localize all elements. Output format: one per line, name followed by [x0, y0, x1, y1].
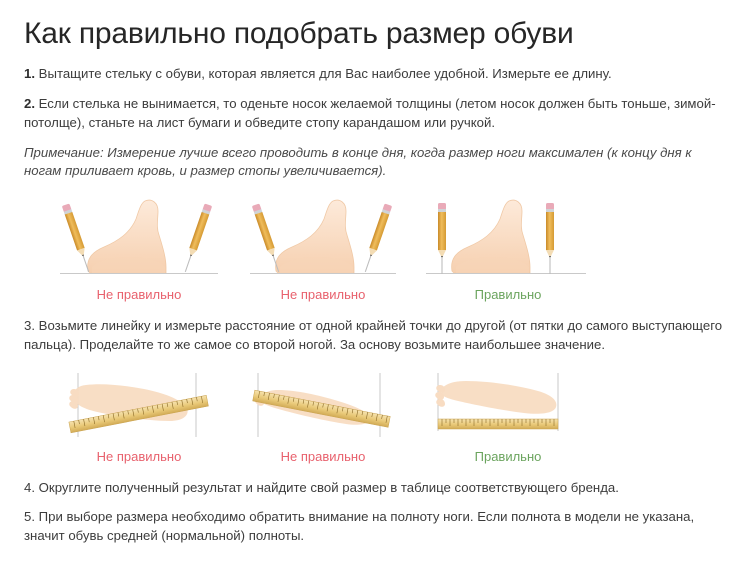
step-3: 3. Возьмите линейку и измерьте расстояни… [24, 317, 726, 354]
figure-pencil-wrong-2: Не правильно [240, 195, 406, 301]
ruler-tilted [253, 390, 391, 427]
figure-pencil-wrong-2-canvas [240, 195, 406, 281]
step-3-text: Возьмите линейку и измерьте расстояние о… [24, 318, 722, 352]
figure-ruler-wrong-2-caption: Не правильно [240, 443, 406, 463]
ruler-horizontal [438, 419, 558, 429]
page-title: Как правильно подобрать размер обуви [24, 0, 726, 51]
step-4: 4. Округлите полученный результат и найд… [24, 479, 726, 498]
step-1-number: 1. [24, 66, 35, 81]
step-5-number: 5. [24, 509, 35, 524]
step-4-text: Округлите полученный результат и найдите… [35, 480, 619, 495]
step-2-text: Если стелька не вынимается, то оденьте н… [24, 96, 716, 130]
infographic-page: Как правильно подобрать размер обуви 1. … [0, 0, 750, 564]
note-text: Примечание: Измерение лучше всего провод… [24, 144, 724, 181]
figure-pencil-wrong-2-caption: Не правильно [240, 281, 406, 301]
step-3-number: 3. [24, 318, 35, 333]
step-2-number: 2. [24, 96, 35, 111]
figure-pencil-wrong-1-caption: Не правильно [46, 281, 232, 301]
figure-pencil-correct-caption: Правильно [418, 281, 598, 301]
step-5: 5. При выборе размера необходимо обратит… [24, 508, 726, 545]
figure-pencil-wrong-1-canvas [46, 195, 232, 281]
figure-ruler-wrong-1-caption: Не правильно [46, 443, 232, 463]
step-5-text: При выборе размера необходимо обратить в… [24, 509, 694, 543]
figure-ruler-correct: Правильно [418, 371, 598, 463]
pencil-right-vertical [546, 203, 554, 274]
steps-top: 1. Вытащите стельку с обуви, которая явл… [24, 65, 726, 181]
figure-ruler-wrong-1: Не правильно [46, 371, 232, 463]
figure-ruler-correct-caption: Правильно [418, 443, 598, 463]
figure-ruler-wrong-2: Не правильно [240, 371, 406, 463]
figure-row-pencil: Не правильно [24, 195, 726, 301]
step-4-number: 4. [24, 480, 35, 495]
figure-ruler-correct-canvas [418, 371, 598, 443]
figure-ruler-wrong-2-canvas [240, 371, 406, 443]
step-2: 2. Если стелька не вынимается, то оденьт… [24, 95, 726, 132]
foot-profile-shape [452, 200, 530, 273]
pencil-right-tilted [362, 204, 393, 274]
pencil-left-vertical [438, 203, 446, 274]
pencil-right-tilted [182, 204, 213, 274]
steps-bottom: 4. Округлите полученный результат и найд… [24, 479, 726, 546]
figure-pencil-correct-canvas [418, 195, 598, 281]
step-1-text: Вытащите стельку с обуви, которая являет… [35, 66, 612, 81]
figure-row-ruler: Не правильно [24, 371, 726, 463]
figure-pencil-correct: Правильно [418, 195, 598, 301]
step-1: 1. Вытащите стельку с обуви, которая явл… [24, 65, 726, 84]
foot-profile-shape [88, 200, 166, 273]
figure-pencil-wrong-1: Не правильно [46, 195, 232, 301]
figure-ruler-wrong-1-canvas [46, 371, 232, 443]
foot-profile-shape [276, 200, 354, 273]
foot-top-shape [435, 381, 556, 414]
